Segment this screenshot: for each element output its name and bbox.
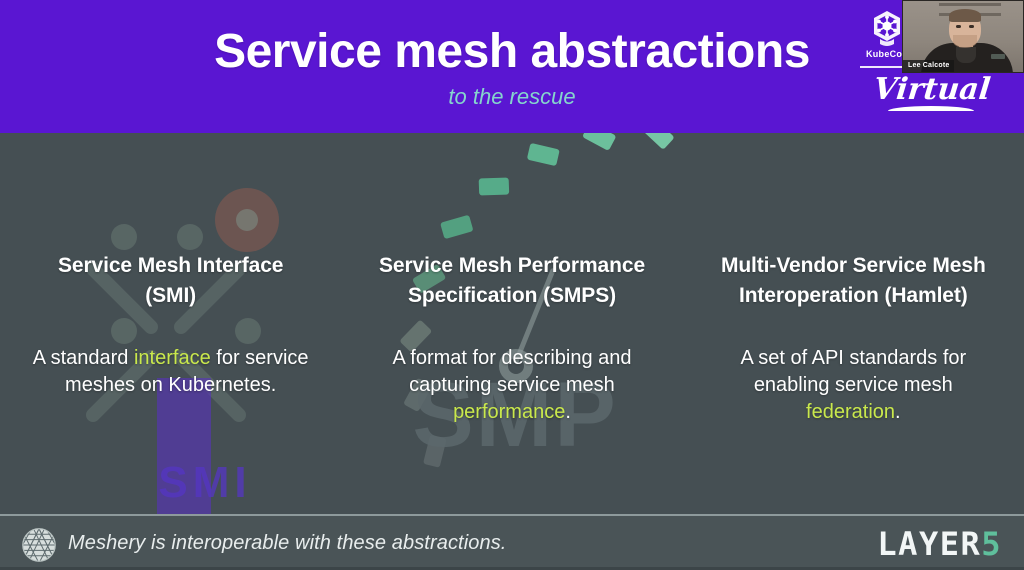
column-heading-line-1: Multi-Vendor Service Mesh <box>721 254 986 277</box>
footer-note: Meshery is interoperable with these abst… <box>68 532 506 555</box>
column-body-highlight: federation <box>806 401 895 423</box>
column-heading: Service Mesh Interface (SMI) <box>0 251 341 311</box>
column-body-before: A format for describing and capturing se… <box>392 347 631 396</box>
slide-footer: Meshery is interoperable with these abst… <box>0 514 1024 570</box>
speaker-shirt-logo <box>991 54 1005 59</box>
speaker-collar <box>956 47 976 63</box>
column-body: A format for describing and capturing se… <box>341 345 682 426</box>
abstraction-columns: Service Mesh Interface (SMI) A standard … <box>0 133 1024 514</box>
column-body: A set of API standards for enabling serv… <box>683 345 1024 426</box>
meshery-geodesic-icon <box>21 527 57 563</box>
speaker-hair <box>949 9 981 22</box>
speaker-eye-right <box>969 25 974 28</box>
column-body-after: . <box>565 401 571 423</box>
column-heading-line-1: Service Mesh Interface <box>58 254 283 277</box>
speaker-eye-left <box>956 25 961 28</box>
column-heading-line-1: Service Mesh Performance <box>379 254 645 277</box>
column-body-after: . <box>895 401 901 423</box>
slide-root: Service mesh abstractions to the rescue <box>0 0 1024 570</box>
column-body-highlight: performance <box>453 401 565 423</box>
column-heading: Service Mesh Performance Specification (… <box>341 251 682 311</box>
webcam-video-tile[interactable]: Lee Calcote <box>902 0 1024 73</box>
column-smps: Service Mesh Performance Specification (… <box>341 133 682 514</box>
kubernetes-helm-wheel-icon <box>867 8 907 48</box>
column-heading-line-2: Interoperation (Hamlet) <box>739 284 968 307</box>
layer5-logo[interactable]: LAYER5 <box>877 528 1002 560</box>
webcam-shelf <box>939 3 1001 6</box>
slide-header: Service mesh abstractions to the rescue <box>0 0 1024 133</box>
layer5-accent-digit: 5 <box>981 525 1002 563</box>
column-heading-line-2: Specification (SMPS) <box>408 284 616 307</box>
column-heading-line-2: (SMI) <box>145 284 196 307</box>
slide-body: SMI SMP Service Mesh I <box>0 133 1024 514</box>
column-hamlet: Multi-Vendor Service Mesh Interoperation… <box>683 133 1024 514</box>
column-body-before: A standard <box>33 347 134 369</box>
column-body-before: A set of API standards for enabling serv… <box>740 347 966 396</box>
column-body-highlight: interface <box>134 347 211 369</box>
column-smi: Service Mesh Interface (SMI) A standard … <box>0 133 341 514</box>
virtual-wordmark: Virtual <box>860 72 1004 107</box>
column-body: A standard interface for service meshes … <box>0 345 341 399</box>
speaker-name-label: Lee Calcote <box>903 60 954 72</box>
layer5-wordmark: LAYER <box>877 525 981 563</box>
column-heading: Multi-Vendor Service Mesh Interoperation… <box>683 251 1024 311</box>
virtual-underline-swoosh <box>888 106 974 111</box>
speaker-beard <box>953 35 977 48</box>
